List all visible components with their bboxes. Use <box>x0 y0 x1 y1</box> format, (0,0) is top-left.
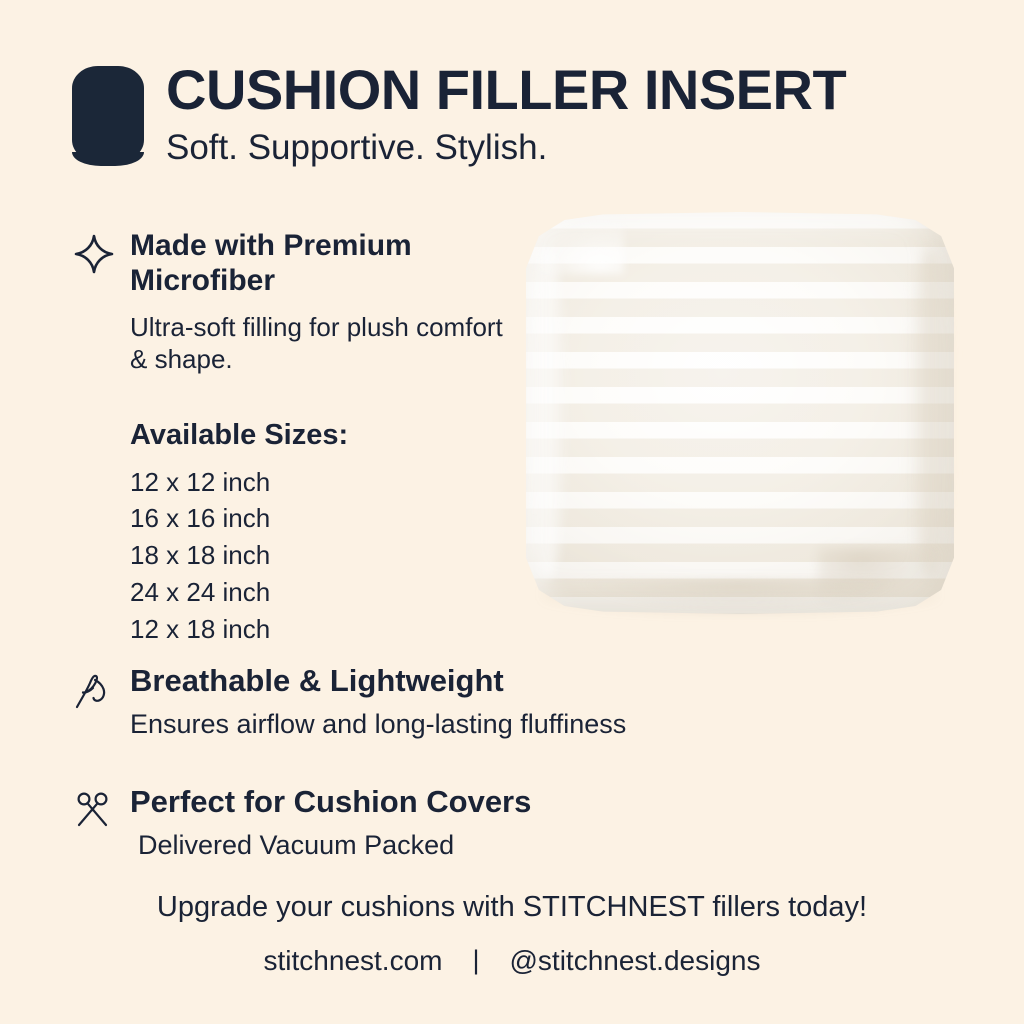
list-item: 12 x 12 inch <box>130 464 522 501</box>
available-sizes-list: 12 x 12 inch 16 x 16 inch 18 x 18 inch 2… <box>130 464 522 649</box>
feature-body-microfiber: Made with Premium Microfiber Ultra-soft … <box>130 228 522 376</box>
contact-handles-row: stitchnest.com | @stitchnest.designs <box>0 946 1024 977</box>
feature-description: Ensures airflow and long-lasting fluffin… <box>130 708 972 741</box>
list-item: 12 x 18 inch <box>130 611 522 648</box>
lower-feature-column: Breathable & Lightweight Ensures airflow… <box>72 664 972 862</box>
available-sizes-block: Available Sizes: 12 x 12 inch 16 x 16 in… <box>130 420 522 648</box>
feature-title: Breathable & Lightweight <box>130 664 972 698</box>
feature-item-microfiber: Made with Premium Microfiber Ultra-soft … <box>72 228 522 376</box>
scissors-icon <box>72 789 116 833</box>
page-title: CUSHION FILLER INSERT <box>166 62 962 118</box>
product-infographic-poster: CUSHION FILLER INSERT Soft. Supportive. … <box>0 0 1024 1024</box>
page-subtitle: Soft. Supportive. Stylish. <box>166 130 962 165</box>
feature-body-cushion-covers: Perfect for Cushion Covers Delivered Vac… <box>130 785 972 862</box>
available-sizes-heading: Available Sizes: <box>130 420 522 452</box>
handle-divider: | <box>472 946 479 976</box>
header-text-group: CUSHION FILLER INSERT Soft. Supportive. … <box>166 60 962 165</box>
call-to-action-text: Upgrade your cushions with STITCHNEST fi… <box>0 892 1024 924</box>
feature-column: Made with Premium Microfiber Ultra-soft … <box>72 228 522 648</box>
feature-item-breathable: Breathable & Lightweight Ensures airflow… <box>72 664 972 741</box>
feature-item-cushion-covers: Perfect for Cushion Covers Delivered Vac… <box>72 785 972 862</box>
cushion-body <box>526 212 954 614</box>
feature-title: Perfect for Cushion Covers <box>130 785 972 819</box>
poster-header: CUSHION FILLER INSERT Soft. Supportive. … <box>72 60 962 165</box>
feather-icon <box>72 668 116 712</box>
feature-title: Made with Premium Microfiber <box>130 228 522 298</box>
poster-footer: Upgrade your cushions with STITCHNEST fi… <box>0 892 1024 977</box>
feature-description: Ultra-soft filling for plush comfort & s… <box>130 312 522 375</box>
product-image-cushion-insert <box>518 208 962 628</box>
sparkle-icon <box>72 232 116 276</box>
cushion-square-logo-icon <box>72 66 144 162</box>
website-link[interactable]: stitchnest.com <box>264 946 443 977</box>
feature-body-breathable: Breathable & Lightweight Ensures airflow… <box>130 664 972 741</box>
list-item: 24 x 24 inch <box>130 574 522 611</box>
list-item: 18 x 18 inch <box>130 537 522 574</box>
list-item: 16 x 16 inch <box>130 500 522 537</box>
social-handle-link[interactable]: @stitchnest.designs <box>509 946 760 977</box>
feature-description: Delivered Vacuum Packed <box>138 829 972 862</box>
